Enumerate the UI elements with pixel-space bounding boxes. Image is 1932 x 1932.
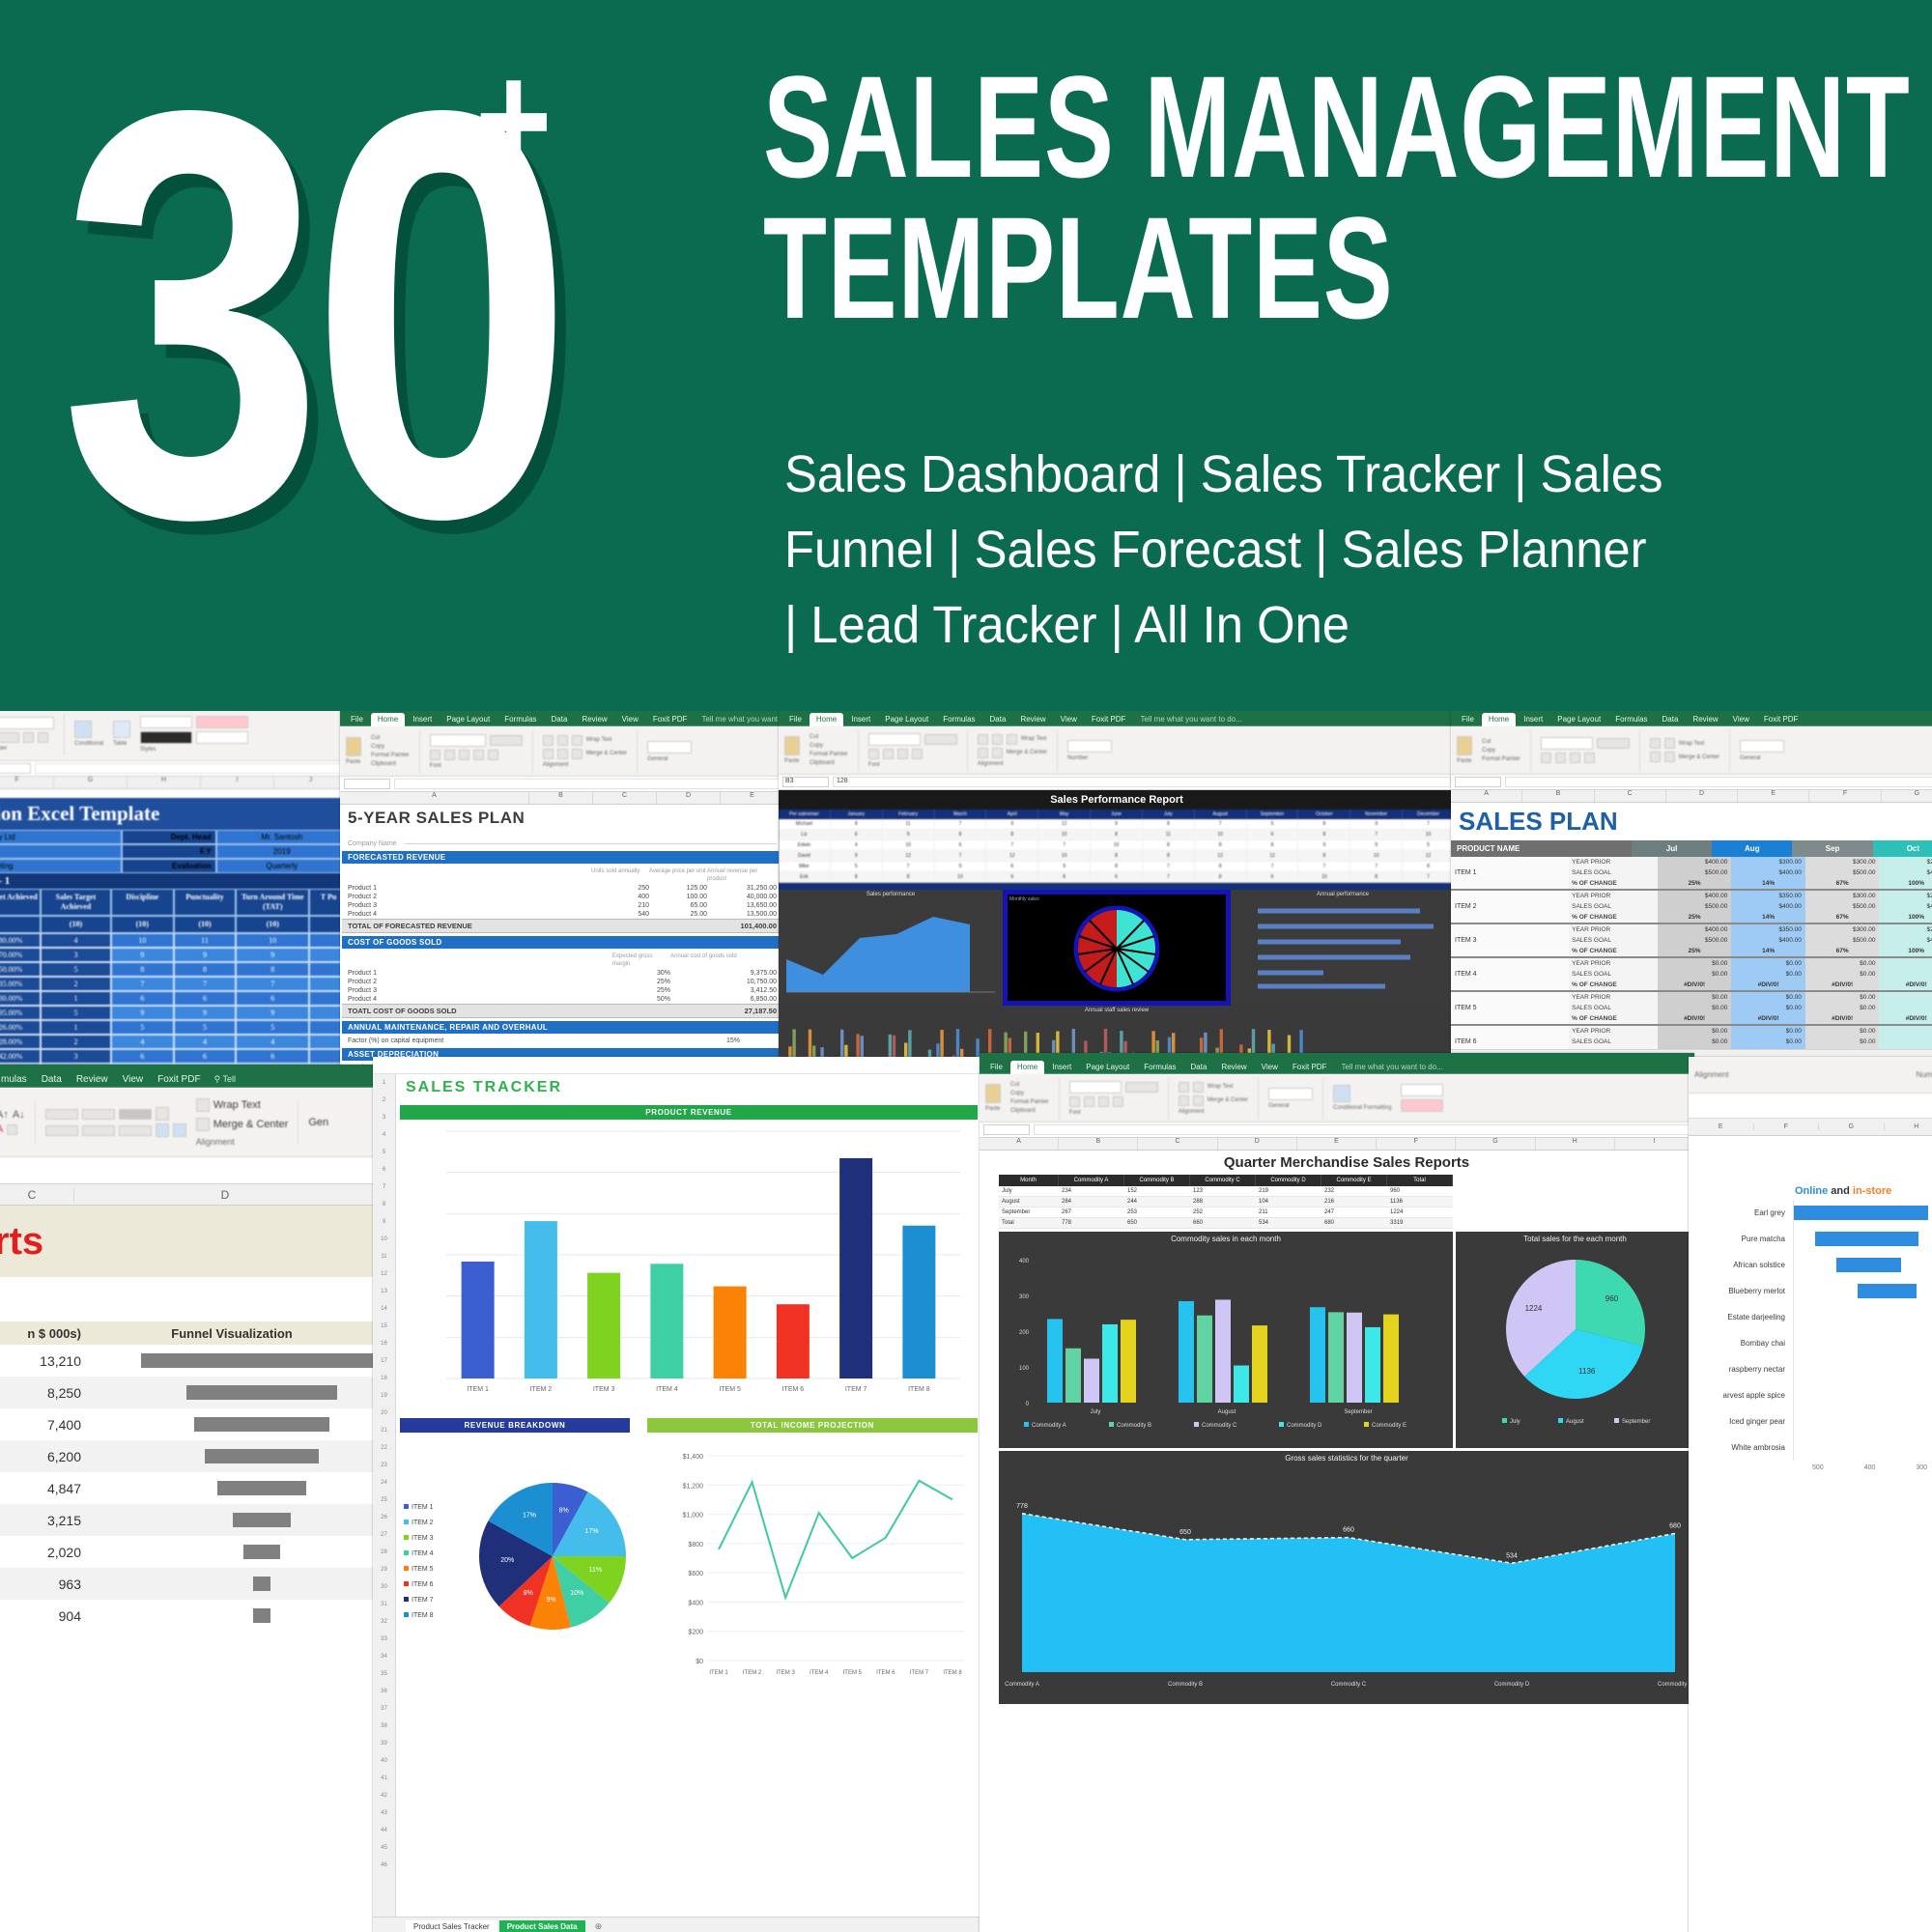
table-cell: 67% [1805, 946, 1880, 956]
table-cell: $200.00 [1879, 924, 1932, 935]
p3-formula-bar[interactable]: 128 [833, 777, 1451, 787]
p4-tab-page-layout[interactable]: Page Layout [1550, 713, 1607, 726]
p8-ribbon-tabs[interactable]: mulas Data Review View Foxit PDF ⚲ Tell [0, 1065, 377, 1088]
p3-title: Sales Performance Report [779, 790, 1455, 810]
table-cell: 7 [1350, 830, 1403, 840]
list-item: Product 321065.0013,650.00 [342, 901, 782, 910]
table-cell: $0.00 [1879, 958, 1932, 969]
panel-sales-plan[interactable]: File Home Insert Page Layout Formulas Da… [1451, 711, 1932, 1068]
p4-merge[interactable]: Merge & Center [1679, 754, 1719, 760]
p3-tab-review[interactable]: Review [1013, 713, 1052, 726]
p6-table-body: July234152123219232960August284244288104… [999, 1186, 1453, 1229]
p8-tab-review[interactable]: Review [70, 1072, 115, 1088]
ribbon-group-clipboard: Clipboard [371, 761, 396, 767]
p7-item-label: Blueberry merlot [1689, 1287, 1793, 1295]
table-cell: $0.00 [1731, 969, 1805, 980]
funnel-bar [141, 1353, 377, 1368]
p3-wrap-text[interactable]: Wrap Text [1021, 736, 1047, 742]
p1-col-1: Sales Target Achieved [41, 889, 111, 916]
table-row: David9127121088121281012 [779, 851, 1455, 862]
funnel-value-label: 13,210 [0, 1353, 87, 1369]
table-cell: 8 [1091, 830, 1143, 840]
funnel-row: 4,847 [0, 1472, 377, 1504]
table-cell: 8 [1350, 872, 1403, 883]
p2-total-rev-label: TOTAL OF FORECASTED REVENUE [348, 922, 472, 930]
p2-extra-value[interactable]: 15% [690, 1037, 777, 1044]
p4-tab-foxit[interactable]: Foxit PDF [1757, 713, 1805, 726]
table-cell: 4 [111, 1035, 174, 1049]
funnel-chart: 13,2108,2507,4006,2004,8473,2152,0209639… [0, 1345, 377, 1632]
table-cell: 778 [1059, 1218, 1124, 1229]
p7-axis-2: 300 [1916, 1464, 1927, 1471]
p6-cond-format[interactable]: Conditional Formatting [1333, 1105, 1391, 1111]
p4-sub-row: SALES GOAL$0.00$0.00$0.00$0.00 [1569, 1037, 1932, 1047]
p6-tab-formulas[interactable]: Formulas [1137, 1061, 1182, 1074]
funnel-value-label: 963 [0, 1577, 87, 1592]
p4-sub-label: % OF CHANGE [1569, 878, 1658, 889]
tab-view[interactable]: View [615, 713, 645, 726]
p4-tab-file[interactable]: File [1455, 713, 1481, 726]
pie-label: 960 [1605, 1294, 1619, 1303]
legend-swatch [1109, 1422, 1114, 1427]
p6-tab-foxit[interactable]: Foxit PDF [1286, 1061, 1334, 1074]
table-cell: 14% [1731, 946, 1805, 956]
p1-unit-2: (10) [111, 916, 174, 933]
column-header: Total [1387, 1175, 1453, 1186]
p7-bar [1858, 1284, 1917, 1298]
p7-item-label: African solstice [1689, 1261, 1793, 1269]
ribbon-format-painter[interactable]: Format Painter [371, 753, 410, 758]
p1-meta-1-value: 2019 [216, 844, 348, 859]
p3-paste[interactable]: Paste [784, 758, 799, 764]
p5-band-revenue-breakdown: REVENUE BREAKDOWN [400, 1418, 630, 1433]
hero-subtitle-line3: | Lead Tracker | All In One [784, 587, 1711, 663]
table-cell: Michael [779, 819, 831, 830]
p4-wrap[interactable]: Wrap Text [1679, 741, 1705, 747]
funnel-bar [253, 1608, 270, 1623]
bar [1347, 1313, 1362, 1403]
column-header: December [1403, 810, 1455, 819]
line-series [719, 1481, 952, 1598]
axis-tick-label: ITEM 3 [776, 1670, 795, 1676]
tab-review[interactable]: Review [575, 713, 613, 726]
p5-band-income-projection: TOTAL INCOME PROJECTION [647, 1418, 978, 1433]
tell-me-box[interactable]: Tell me what you want to do... [695, 713, 784, 726]
p4-tab-view[interactable]: View [1726, 713, 1756, 726]
p3-cut[interactable]: Cut [810, 734, 818, 740]
p7-item-label: Iced ginger pear [1689, 1417, 1793, 1426]
table-cell: 247 [1321, 1207, 1387, 1218]
legend-swatch [404, 1520, 409, 1524]
p6-tell-me[interactable]: Tell me what you want to do... [1334, 1061, 1449, 1074]
column-header: Commodity A [1059, 1175, 1124, 1186]
p3-tab-formulas[interactable]: Formulas [936, 713, 981, 726]
ribbon-number-format[interactable]: General [647, 756, 668, 762]
p8-title-tail: rts [0, 1220, 43, 1264]
p8-general[interactable]: Gen [308, 1117, 328, 1128]
p2-hdr-cogs: Annual cost of goods sold [670, 952, 777, 968]
p4-paste[interactable]: Paste [1457, 758, 1471, 764]
table-cell: 6 [831, 830, 883, 840]
p8-unit-header: n $ 000s) [0, 1326, 87, 1341]
table-cell: 4 [174, 1035, 237, 1049]
p3-format-painter[interactable]: Format Painter [810, 752, 848, 757]
table-cell: 244 [1124, 1197, 1190, 1207]
p6-tab-data[interactable]: Data [1184, 1061, 1214, 1074]
table-cell: 8 [831, 819, 883, 830]
p2-row-value: 9,375.00 [670, 970, 777, 977]
ribbon-group-alignment: Alignment [543, 762, 569, 768]
table-cell: 1 [41, 1020, 111, 1035]
table-cell: $350.00 [1731, 891, 1805, 901]
table-row: Edwin41067710888995 [779, 840, 1455, 851]
p8-tab-view[interactable]: View [116, 1072, 151, 1088]
table-cell: 8 [1038, 872, 1091, 883]
p2-company-placeholder[interactable]: Company Name [348, 840, 397, 847]
legend-label: September [1622, 1419, 1650, 1425]
screenshot-collage: Number Conditional Table Styles FGHIJ ti… [0, 711, 1932, 1932]
table-cell: 8 [1091, 862, 1143, 872]
p3-tab-data[interactable]: Data [983, 713, 1013, 726]
p4-sub-label: SALES GOAL [1569, 1037, 1658, 1047]
p3-area-chart [779, 899, 1003, 1000]
p6-paste[interactable]: Paste [985, 1106, 1000, 1112]
table-cell: 100% [1879, 878, 1932, 889]
conditional-formatting-icon[interactable]: Conditional [74, 741, 103, 747]
panel-5-year-sales-plan[interactable]: File Home Insert Page Layout Formulas Da… [340, 711, 784, 1066]
funnel-value-label: 7,400 [0, 1417, 87, 1433]
p8-col-c: C [0, 1188, 74, 1202]
table-cell: 8 [111, 962, 174, 977]
table-cell: 6 [236, 991, 309, 1006]
p6-tab-view[interactable]: View [1255, 1061, 1285, 1074]
ribbon-group-number: Number [0, 746, 7, 752]
table-cell: 50.00% [0, 962, 41, 977]
p4-tab-formulas[interactable]: Formulas [1608, 713, 1654, 726]
funnel-row: 2,020 [0, 1536, 377, 1568]
funnel-value-label: 8,250 [0, 1385, 87, 1401]
p4-sub-row: YEAR PRIOR$0.00$0.00$0.00$0.00 [1569, 992, 1932, 1003]
table-cell: #DIV/0! [1658, 1013, 1732, 1024]
pie-label: 8% [559, 1507, 569, 1514]
table-cell: 12 [1195, 851, 1247, 862]
p2-row-label: Product 1 [348, 885, 591, 892]
p4-sub-label: YEAR PRIOR [1569, 857, 1658, 867]
legend-label: ITEM 2 [412, 1520, 434, 1526]
table-cell: 5 [1247, 819, 1299, 830]
table-cell: 10 [111, 933, 174, 948]
p3-name-box[interactable]: B3 [782, 777, 829, 787]
p5-add-sheet-icon[interactable]: ⊕ [587, 1921, 603, 1932]
p4-sub-label: YEAR PRIOR [1569, 1026, 1658, 1037]
table-cell: $0.00 [1731, 992, 1805, 1003]
funnel-row: 963 [0, 1568, 377, 1600]
legend-label: ITEM 4 [412, 1550, 434, 1557]
axis-tick-label: Commodity D [1494, 1682, 1530, 1688]
p6-tab-review[interactable]: Review [1214, 1061, 1253, 1074]
p3-tab-foxit-pdf[interactable]: Foxit PDF [1085, 713, 1133, 726]
legend-label: ITEM 7 [412, 1597, 434, 1604]
p4-cut[interactable]: Cut [1482, 739, 1491, 745]
p1-meta-2-value: Quarterly [216, 859, 348, 873]
tab-data[interactable]: Data [545, 713, 575, 726]
p8-tab-data[interactable]: Data [35, 1072, 69, 1088]
table-cell: 288 [1190, 1197, 1256, 1207]
axis-tick-label: ITEM 5 [843, 1670, 863, 1676]
funnel-bar [253, 1577, 270, 1591]
p3-grp-clipboard: Clipboard [810, 760, 835, 766]
axis-tick-label: ITEM 3 [593, 1386, 615, 1393]
ribbon-paste[interactable]: Paste [346, 759, 360, 765]
p6-copy[interactable]: Copy [1010, 1091, 1024, 1096]
panel-sales-team-evaluation[interactable]: Number Conditional Table Styles FGHIJ ti… [0, 711, 348, 1066]
p8-wrap-text[interactable]: Wrap Text [213, 1099, 261, 1111]
table-cell: August [999, 1197, 1059, 1207]
p4-item-name: ITEM 5 [1451, 992, 1569, 1024]
p4-title: SALES PLAN [1451, 803, 1932, 840]
p1-meta-0-key: Dept. Head [122, 830, 215, 844]
panel-sales-performance-report[interactable]: File Home Insert Page Layout Formulas Da… [779, 711, 1455, 1070]
tab-home[interactable]: Home [371, 713, 405, 726]
list-item: Earl grey [1689, 1200, 1932, 1226]
table-cell: 30.00% [0, 991, 41, 1006]
p3-tab-view[interactable]: View [1054, 713, 1084, 726]
p6-tab-insert[interactable]: Insert [1045, 1061, 1078, 1074]
table-cell: 123 [1190, 1186, 1256, 1197]
tab-insert[interactable]: Insert [406, 713, 439, 726]
p7-title-b: and [1828, 1185, 1853, 1197]
axis-tick-label: Commodity A [1005, 1682, 1039, 1688]
table-cell: $400.00 [1879, 901, 1932, 912]
p4-tab-review[interactable]: Review [1686, 713, 1724, 726]
funnel-value-label: 2,020 [0, 1545, 87, 1560]
table-cell: 6 [236, 1049, 309, 1064]
table-cell: 9 [1038, 862, 1091, 872]
p3-tell-me[interactable]: Tell me what you want to do... [1133, 713, 1248, 726]
p6-tab-home[interactable]: Home [1010, 1061, 1044, 1074]
table-cell: $500.00 [1805, 901, 1880, 912]
p4-sub-row: % OF CHANGE25%14%67%100% [1569, 946, 1932, 956]
table-cell: 1136 [1387, 1197, 1453, 1207]
list-item: Product 450%6,850.00 [342, 995, 782, 1004]
axis-tick-label: ITEM 6 [782, 1386, 805, 1393]
tab-foxit-pdf[interactable]: Foxit PDF [646, 713, 695, 726]
p3-table-body: Michael81179129875897Liz6988108111068710… [779, 819, 1455, 883]
table-cell: #DIV/0! [1879, 1013, 1932, 1024]
table-cell: 6 [986, 872, 1038, 883]
axis-tick-label: ITEM 2 [530, 1386, 553, 1393]
table-cell: 5 [174, 1020, 237, 1035]
table-cell: $300.00 [1805, 924, 1880, 935]
p3-copy[interactable]: Copy [810, 743, 823, 749]
p4-sub-row: % OF CHANGE25%14%67%100% [1569, 878, 1932, 889]
p5-sheet-tabs[interactable]: Product Sales Tracker Product Sales Data… [373, 1917, 985, 1932]
axis-tick-label: $400 [688, 1600, 703, 1606]
table-cell: 9 [986, 819, 1038, 830]
table-cell: 11 [883, 819, 935, 830]
table-cell: 42.00% [0, 1049, 41, 1064]
p3-tab-file[interactable]: File [782, 713, 809, 726]
p3-tab-home[interactable]: Home [810, 713, 843, 726]
p3-tab-insert[interactable]: Insert [844, 713, 877, 726]
funnel-bar [194, 1417, 329, 1432]
ribbon-wrap-text[interactable]: Wrap Text [586, 737, 612, 743]
table-cell: $0.00 [1658, 1026, 1732, 1037]
data-label: 534 [1506, 1552, 1518, 1559]
panel-sales-funnel-charts[interactable]: mulas Data Review View Foxit PDF ⚲ Tell … [0, 1065, 377, 1932]
p1-table-body: 80.00%410111070.00%399950.00%588835.00%2… [0, 933, 348, 1066]
p4-sub-label: % OF CHANGE [1569, 946, 1658, 956]
table-cell: 4 [41, 933, 111, 948]
table-cell: 219 [1256, 1186, 1321, 1197]
table-cell: 9 [831, 851, 883, 862]
format-as-table-icon[interactable]: Table [113, 741, 127, 747]
legend-label: July [1510, 1419, 1520, 1425]
table-cell: 7 [1195, 819, 1247, 830]
p2-row-label: Product 4 [348, 911, 591, 918]
p8-tab-foxit[interactable]: Foxit PDF [151, 1072, 207, 1088]
p4-sub-label: % OF CHANGE [1569, 980, 1658, 990]
table-cell: 7 [236, 977, 309, 991]
ribbon-copy[interactable]: Copy [371, 744, 384, 750]
p2-row-value: 3,412.50 [670, 987, 777, 994]
p4-item-name: ITEM 1 [1451, 857, 1569, 889]
table-cell: 28.00% [0, 1035, 41, 1049]
funnel-value-label: 4,847 [0, 1481, 87, 1496]
legend-label: Commodity A [1032, 1423, 1066, 1429]
p6-cut[interactable]: Cut [1010, 1082, 1019, 1088]
bar [1328, 1312, 1344, 1403]
p6-tab-page-layout[interactable]: Page Layout [1079, 1061, 1136, 1074]
p4-month-sep: Sep [1792, 840, 1872, 857]
p4-tab-insert[interactable]: Insert [1517, 713, 1549, 726]
p4-copy[interactable]: Copy [1482, 748, 1495, 753]
table-cell: 284 [1059, 1197, 1124, 1207]
p4-sub-row: YEAR PRIOR$400.00$350.00$300.00$200.00 [1569, 891, 1932, 901]
p4-sub-row: YEAR PRIOR$0.00$0.00$0.00$0.00 [1569, 1026, 1932, 1037]
p8-merge-center[interactable]: Merge & Center [213, 1119, 289, 1130]
axis-tick-label: ITEM 4 [810, 1670, 829, 1676]
axis-tick-label: Commodity E [1658, 1682, 1689, 1688]
p6-merge[interactable]: Merge & Center [1207, 1097, 1248, 1103]
table-cell: $200.00 [1879, 891, 1932, 901]
p5-tab-data[interactable]: Product Sales Data [499, 1920, 585, 1932]
table-row: 28.00%2444 [0, 1035, 348, 1049]
table-cell: 9 [883, 830, 935, 840]
p3-tab-page-layout[interactable]: Page Layout [878, 713, 935, 726]
p6-ribbon-tabs[interactable]: File Home Insert Page Layout Formulas Da… [980, 1053, 1694, 1074]
p6-wrap[interactable]: Wrap Text [1207, 1084, 1234, 1090]
bar [1365, 1327, 1380, 1403]
p1-band-1: er - 1 [0, 873, 348, 889]
axis-tick-label: ITEM 2 [743, 1670, 762, 1676]
area-series [1022, 1514, 1675, 1672]
tab-file[interactable]: File [344, 713, 370, 726]
p4-sub-label: SALES GOAL [1569, 1003, 1658, 1013]
p4-tab-data[interactable]: Data [1656, 713, 1686, 726]
table-cell: 3319 [1387, 1218, 1453, 1229]
table-cell: 6 [1247, 872, 1299, 883]
pie-label: 17% [585, 1528, 599, 1535]
table-cell: $0.00 [1658, 992, 1732, 1003]
p2-row-value: 25.00 [649, 911, 707, 918]
table-cell: $0.00 [1805, 1003, 1880, 1013]
funnel-row: 3,215 [0, 1504, 377, 1536]
panel-quarter-merchandise-sales[interactable]: File Home Insert Page Layout Formulas Da… [980, 1053, 1694, 1932]
p6-fmt[interactable]: Format Painter [1010, 1099, 1049, 1105]
column-header: April [986, 810, 1038, 819]
p7-axis-0: 500 [1812, 1464, 1824, 1471]
legend-swatch [404, 1597, 409, 1602]
p6-tab-file[interactable]: File [983, 1061, 1009, 1074]
axis-tick-label: ITEM 8 [943, 1670, 962, 1676]
p4-sub-label: SALES GOAL [1569, 969, 1658, 980]
column-header: October [1298, 810, 1350, 819]
table-cell: 4 [236, 1035, 309, 1049]
p8-grp-alignment: Alignment [196, 1137, 235, 1147]
column-header: February [883, 810, 935, 819]
tab-formulas[interactable]: Formulas [497, 713, 543, 726]
p4-sub-label: SALES GOAL [1569, 935, 1658, 946]
axis-tick-label: $800 [688, 1542, 703, 1548]
p4-fmt-painter[interactable]: Format Painter [1482, 756, 1520, 762]
table-cell: 8 [1143, 851, 1195, 862]
table-cell: 12 [1038, 819, 1091, 830]
p1-col-3: Punctuality [174, 889, 237, 916]
tab-page-layout[interactable]: Page Layout [440, 713, 497, 726]
p4-tab-home[interactable]: Home [1482, 713, 1516, 726]
table-cell: $400.00 [1658, 857, 1732, 867]
p2-revenue-rows: Product 1250125.0031,250.00Product 24001… [342, 884, 782, 919]
p3-ribbon-tabs[interactable]: File Home Insert Page Layout Formulas Da… [779, 711, 1455, 726]
p6-grp-font: Font [1069, 1110, 1081, 1116]
axis-tick-label: $600 [688, 1571, 703, 1577]
ribbon-cut[interactable]: Cut [371, 735, 380, 741]
p3-hbar-chart [1231, 899, 1449, 996]
table-cell: 14% [1731, 912, 1805, 923]
table-cell: 9 [111, 1006, 174, 1020]
p2-band-forecasted-revenue: FORECASTED REVENUE [342, 851, 782, 864]
table-cell: 25% [1658, 946, 1732, 956]
p4-sub-label: YEAR PRIOR [1569, 992, 1658, 1003]
panel-sales-tracker[interactable]: 1234567891011121314151617181920212223242… [373, 1057, 985, 1932]
legend-swatch [1502, 1418, 1507, 1423]
p5-tab-tracker[interactable]: Product Sales Tracker [406, 1920, 497, 1932]
p4-sub-label: SALES GOAL [1569, 901, 1658, 912]
table-cell: 8 [1143, 840, 1195, 851]
table-cell: 8 [935, 830, 987, 840]
panel-online-instore-sales[interactable]: Alignment Number EFGH Online and in-stor… [1689, 1057, 1932, 1932]
ribbon-merge-center[interactable]: Merge & Center [586, 751, 627, 756]
p3-merge-center[interactable]: Merge & Center [1007, 750, 1047, 755]
p6-numfmt[interactable]: General [1268, 1103, 1289, 1109]
table-cell: Mike [779, 862, 831, 872]
p2-total-cogs-value: 27,187.50 [745, 1007, 777, 1015]
bar [1121, 1320, 1136, 1403]
table-cell: 5 [111, 1020, 174, 1035]
p4-ribbon-tabs[interactable]: File Home Insert Page Layout Formulas Da… [1451, 711, 1932, 726]
p8-tab-formulas[interactable]: mulas [0, 1072, 34, 1088]
table-cell: 7 [111, 977, 174, 991]
p4-number-format[interactable]: General [1740, 755, 1760, 761]
p8-tell-me-icon[interactable]: ⚲ Tell [209, 1071, 241, 1088]
p6-chart3-title: Gross sales statistics for the quarter [999, 1451, 1694, 1465]
p2-row-value: 50% [612, 996, 670, 1003]
p2-ribbon-tabs[interactable]: File Home Insert Page Layout Formulas Da… [340, 711, 784, 726]
funnel-value-label: 3,215 [0, 1513, 87, 1528]
funnel-bar [243, 1545, 280, 1559]
legend-swatch [404, 1581, 409, 1586]
